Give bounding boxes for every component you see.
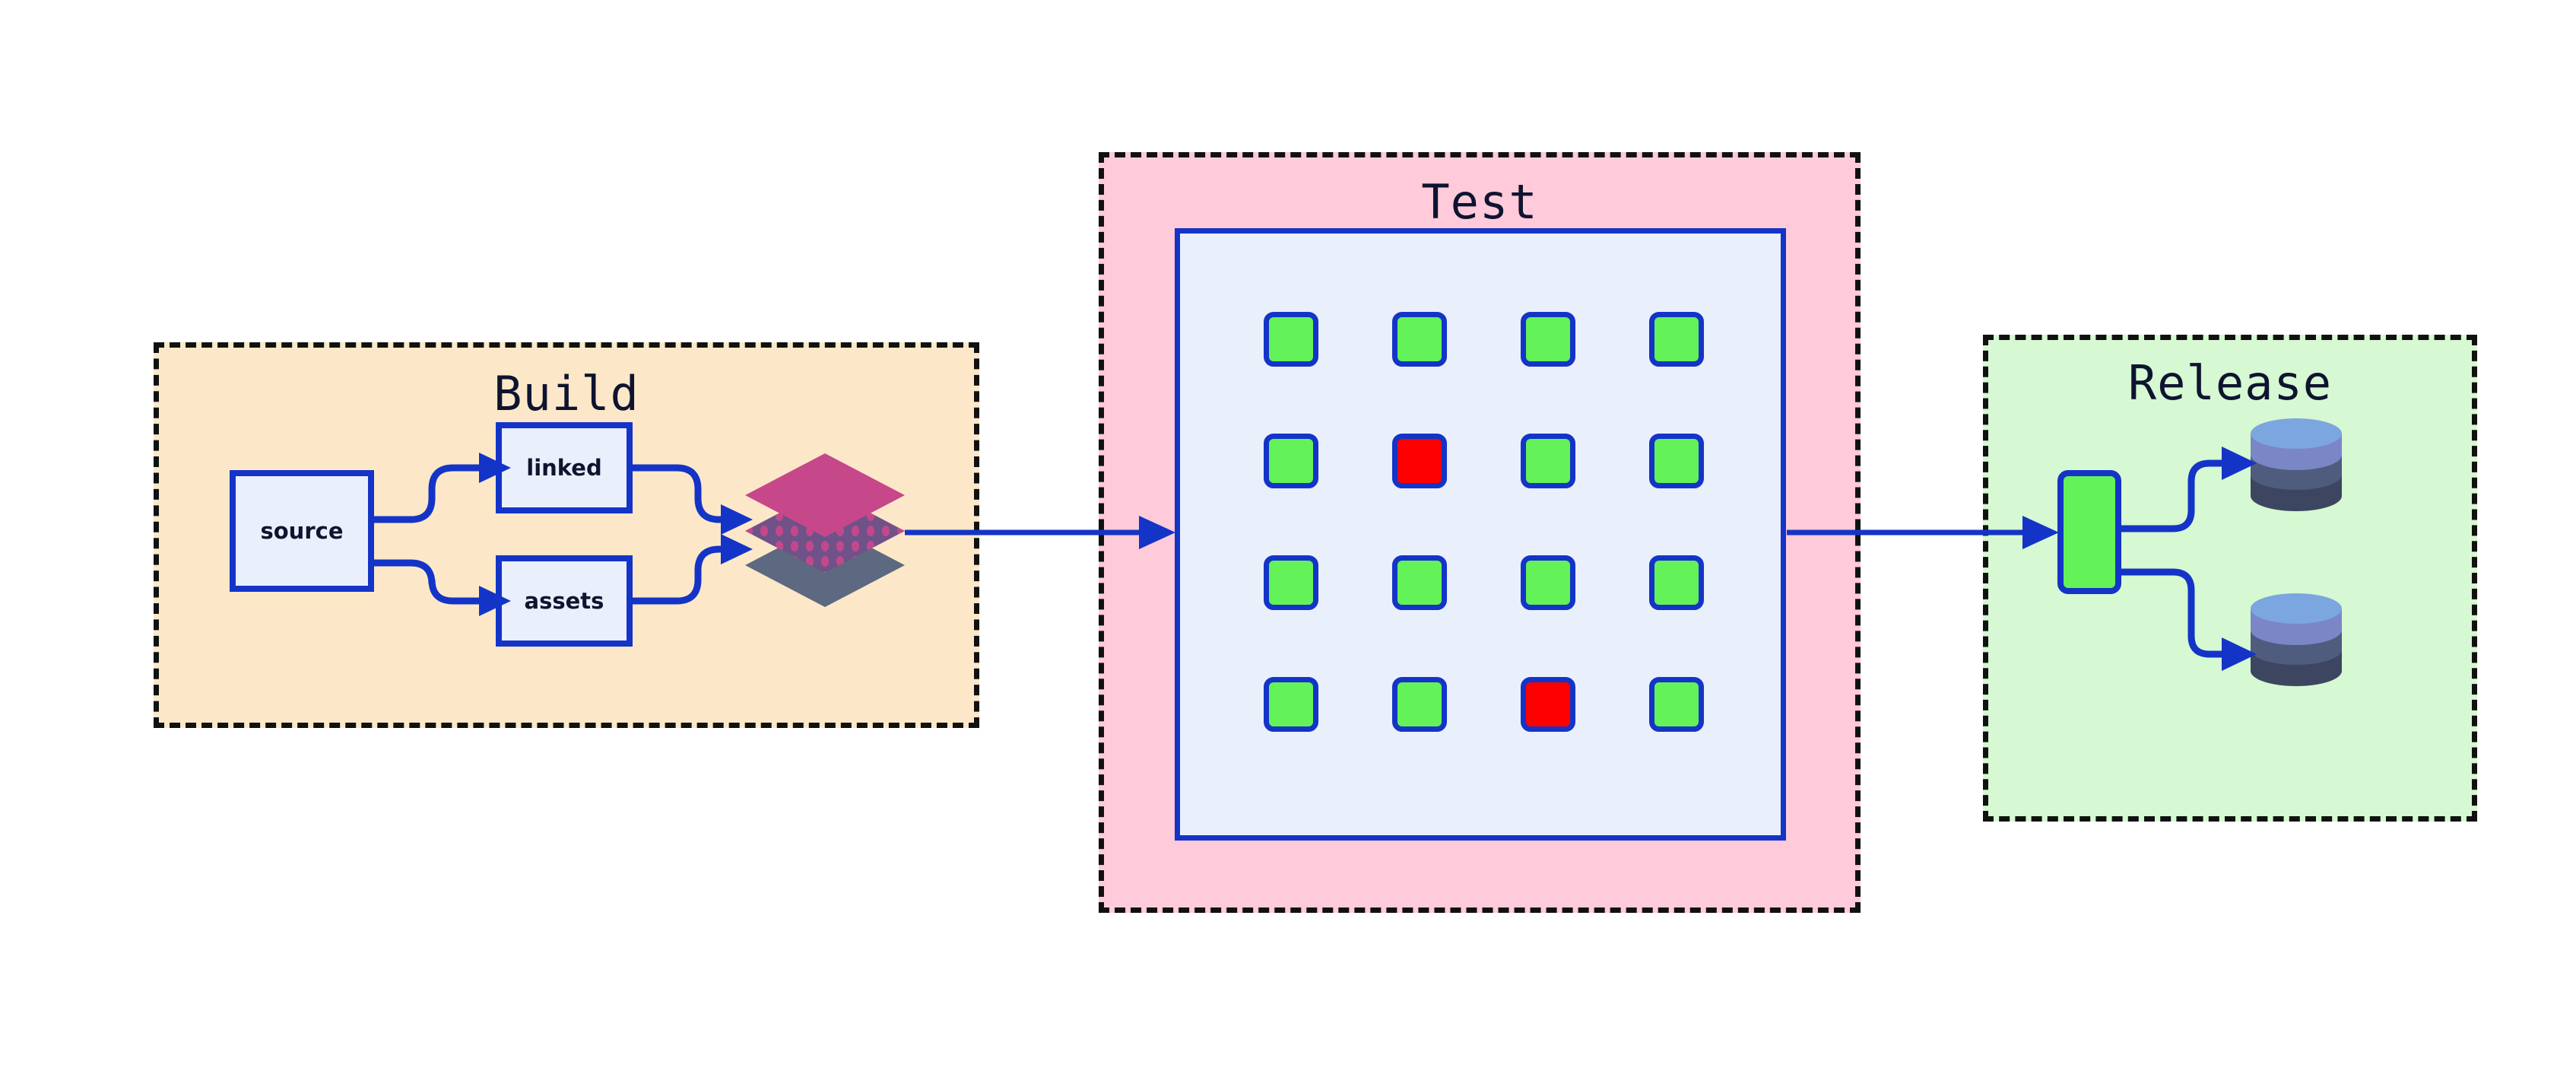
test-cell-passed[interactable]	[1649, 434, 1704, 488]
test-cell-passed[interactable]	[1521, 555, 1575, 610]
release-artifact[interactable]	[2057, 470, 2121, 594]
test-cell-failed[interactable]	[1392, 434, 1447, 488]
test-cell-passed[interactable]	[1392, 555, 1447, 610]
node-source-label: source	[261, 518, 344, 544]
test-cell-passed[interactable]	[1392, 312, 1447, 367]
test-cell-passed[interactable]	[1264, 677, 1318, 732]
test-cell-passed[interactable]	[1264, 434, 1318, 488]
test-cell-passed[interactable]	[1264, 555, 1318, 610]
diagram-canvas: Build source linked assets Test	[0, 0, 2576, 1068]
layers-stack-icon[interactable]	[741, 447, 909, 615]
node-linked[interactable]: linked	[496, 422, 633, 513]
node-assets[interactable]: assets	[496, 555, 633, 647]
test-cell-passed[interactable]	[1392, 677, 1447, 732]
test-cell-passed[interactable]	[1521, 312, 1575, 367]
group-release-title: Release	[1988, 355, 2472, 411]
test-result-grid	[1264, 312, 1705, 753]
test-cell-passed[interactable]	[1649, 677, 1704, 732]
test-cell-passed[interactable]	[1264, 312, 1318, 367]
node-linked-label: linked	[526, 455, 601, 481]
group-test-title: Test	[1104, 174, 1855, 230]
test-cell-failed[interactable]	[1521, 677, 1575, 732]
database-icon[interactable]	[2247, 592, 2346, 689]
database-icon[interactable]	[2247, 417, 2346, 514]
node-assets-label: assets	[525, 588, 604, 614]
node-source[interactable]: source	[230, 470, 374, 592]
group-build-title: Build	[159, 366, 974, 421]
test-cell-passed[interactable]	[1649, 555, 1704, 610]
test-cell-passed[interactable]	[1649, 312, 1704, 367]
test-cell-passed[interactable]	[1521, 434, 1575, 488]
